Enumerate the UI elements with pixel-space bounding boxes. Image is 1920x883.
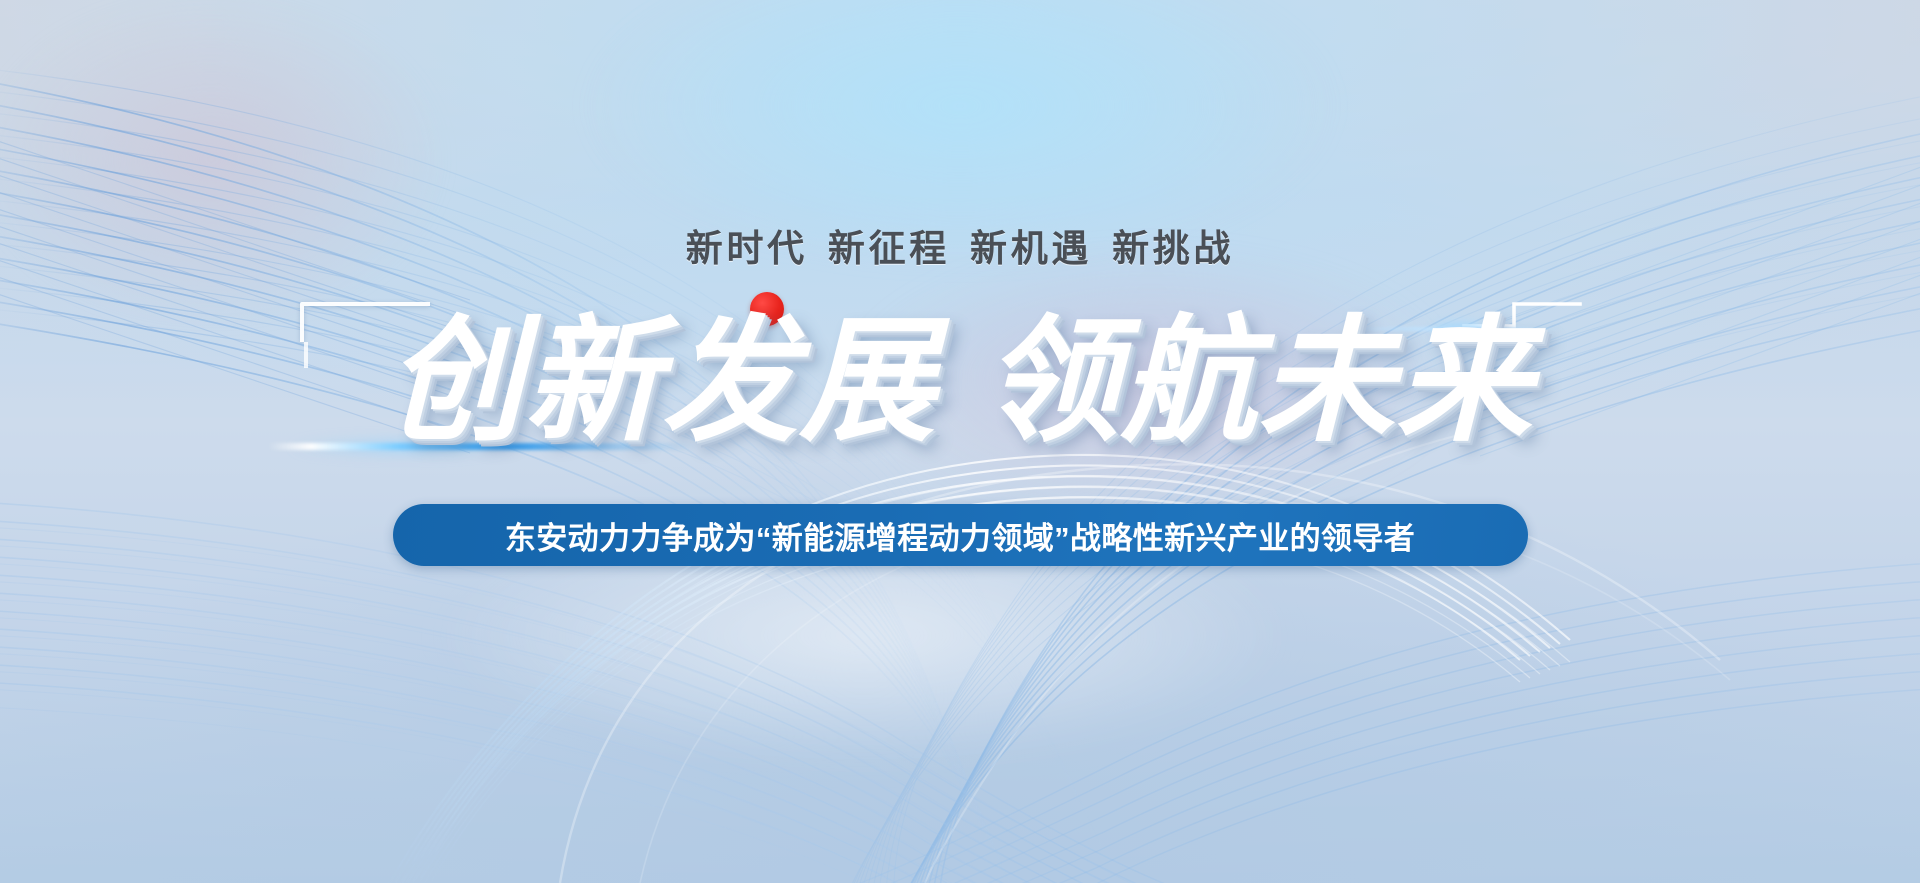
headline-block: 创新发展领航未来 <box>290 296 1630 466</box>
slogan-pill: 东安动力力争成为“新能源增程动力领域”战略性新兴产业的领导者 <box>393 504 1528 566</box>
eyebrow-part-2: 新征程 <box>828 228 950 269</box>
promo-banner: 新时代新征程新机遇新挑战 创新发展领航未来 东安动力力争成为“新能源增程动力领域… <box>0 0 1920 883</box>
eyebrow-tagline: 新时代新征程新机遇新挑战 <box>676 218 1244 272</box>
eyebrow-part-1: 新时代 <box>686 228 808 269</box>
eyebrow-part-4: 新挑战 <box>1112 228 1234 269</box>
banner-content: 新时代新征程新机遇新挑战 创新发展领航未来 东安动力力争成为“新能源增程动力领域… <box>0 0 1920 883</box>
page-title: 创新发展领航未来 <box>290 296 1630 466</box>
eyebrow-part-3: 新机遇 <box>970 228 1092 269</box>
headline-right: 领航未来 <box>983 305 1534 457</box>
slogan-text: 东安动力力争成为“新能源增程动力领域”战略性新兴产业的领导者 <box>505 513 1415 558</box>
headline-left: 创新发展 <box>386 305 937 457</box>
